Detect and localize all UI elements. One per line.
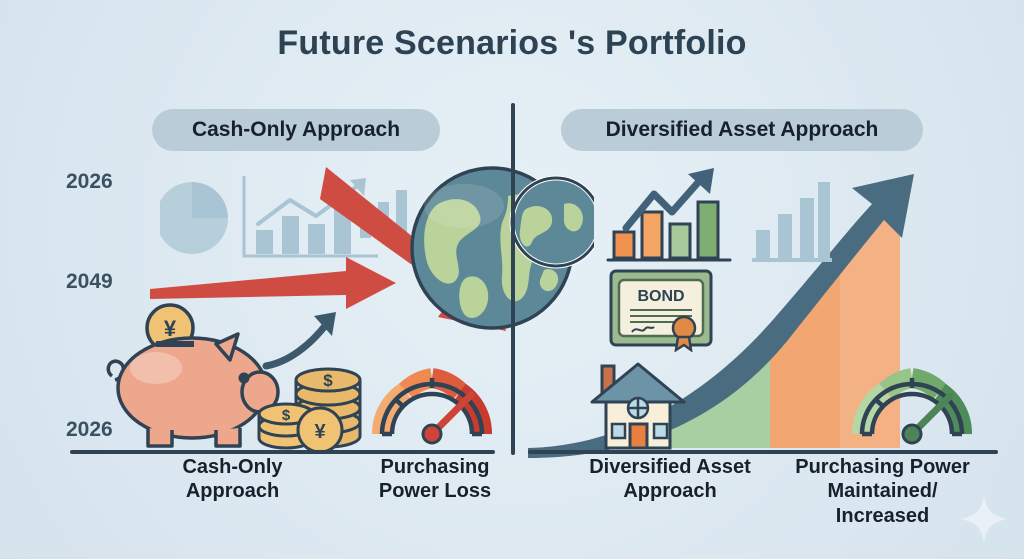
svg-text:¥: ¥ [314, 421, 326, 443]
baseline-right [528, 450, 998, 454]
coin-stack-icon: $ $ ¥ [256, 352, 366, 452]
caption-cash-only-approach: Cash-OnlyApproach [140, 455, 325, 504]
svg-text:$: $ [282, 407, 291, 424]
zigzag-arrow-icon [620, 166, 730, 238]
badge-cash-only: Cash-Only Approach [152, 109, 440, 151]
baseline-left [70, 450, 495, 454]
globe-icon [404, 160, 594, 340]
page-title: Future Scenarios 's Portfolio [0, 24, 1024, 63]
house-icon [584, 356, 690, 452]
caption-purchasing-power-maintained: Purchasing PowerMaintained/Increased [780, 455, 985, 528]
faded-bars-icon [752, 176, 832, 266]
svg-text:¥: ¥ [164, 316, 177, 341]
risk-gauge-icon [368, 348, 496, 448]
sparkle-icon [958, 493, 1010, 545]
year-label-2026-bottom: 2026 [66, 418, 113, 442]
bond-certificate-icon: BOND [608, 268, 714, 352]
svg-text:$: $ [323, 371, 333, 390]
bond-label: BOND [637, 288, 684, 305]
caption-diversified-asset-approach: Diversified AssetApproach [565, 455, 775, 504]
growth-gauge-icon [848, 348, 976, 448]
year-label-2049: 2049 [66, 270, 113, 294]
panel-divider [511, 103, 515, 455]
caption-purchasing-power-loss: PurchasingPower Loss [355, 455, 515, 504]
year-label-2026-top: 2026 [66, 170, 113, 194]
infographic-canvas: Future Scenarios 's Portfolio Cash-Only … [0, 0, 1024, 559]
badge-diversified-asset: Diversified Asset Approach [561, 109, 923, 151]
